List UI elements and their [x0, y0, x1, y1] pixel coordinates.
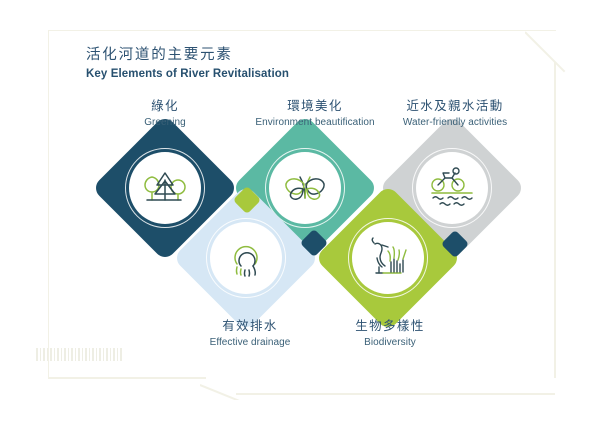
label-greening-en: Greening [105, 116, 225, 130]
trees-icon [140, 167, 190, 209]
frame-bottom-right-edge [236, 393, 555, 395]
barcode-decoration [36, 348, 122, 361]
label-environment-zh: 環境美化 [245, 98, 385, 115]
butterfly-leaves-icon [281, 168, 329, 208]
label-drainage-en: Effective drainage [190, 336, 310, 350]
icon-disc-biodiversity [352, 222, 424, 294]
label-waterfriendly-en: Water-friendly activities [385, 116, 525, 130]
label-biodiversity-zh: 生物多樣性 [330, 318, 450, 335]
frame-bottom-notch [200, 370, 242, 400]
label-drainage-zh: 有效排水 [190, 318, 310, 335]
frame-corner-chamfer [525, 31, 569, 75]
element-effective-drainage[interactable] [194, 206, 298, 310]
label-water-friendly-activities: 近水及親水活動 Water-friendly activities [385, 98, 525, 129]
label-biodiversity-en: Biodiversity [330, 336, 450, 350]
page-title: 活化河道的主要元素 Key Elements of River Revitali… [86, 45, 289, 80]
infographic-canvas: 活化河道的主要元素 Key Elements of River Revitali… [0, 0, 600, 437]
icon-disc-drainage [210, 222, 282, 294]
label-effective-drainage: 有效排水 Effective drainage [190, 318, 310, 349]
label-greening-zh: 綠化 [105, 98, 225, 115]
label-environment-beautification: 環境美化 Environment beautification [245, 98, 385, 129]
label-environment-en: Environment beautification [245, 116, 385, 130]
frame-bottom-left-edge [48, 377, 206, 379]
label-greening: 綠化 Greening [105, 98, 225, 129]
heron-reeds-icon [363, 236, 413, 280]
label-waterfriendly-zh: 近水及親水活動 [385, 98, 525, 115]
page-title-en: Key Elements of River Revitalisation [86, 68, 289, 80]
page-title-zh: 活化河道的主要元素 [86, 45, 289, 66]
element-biodiversity[interactable] [336, 206, 440, 310]
drainage-pipe-icon [223, 236, 269, 280]
cyclist-waves-icon [426, 166, 478, 210]
label-biodiversity: 生物多樣性 Biodiversity [330, 318, 450, 349]
icon-disc-greening [129, 152, 201, 224]
frame-right-edge [554, 62, 556, 378]
